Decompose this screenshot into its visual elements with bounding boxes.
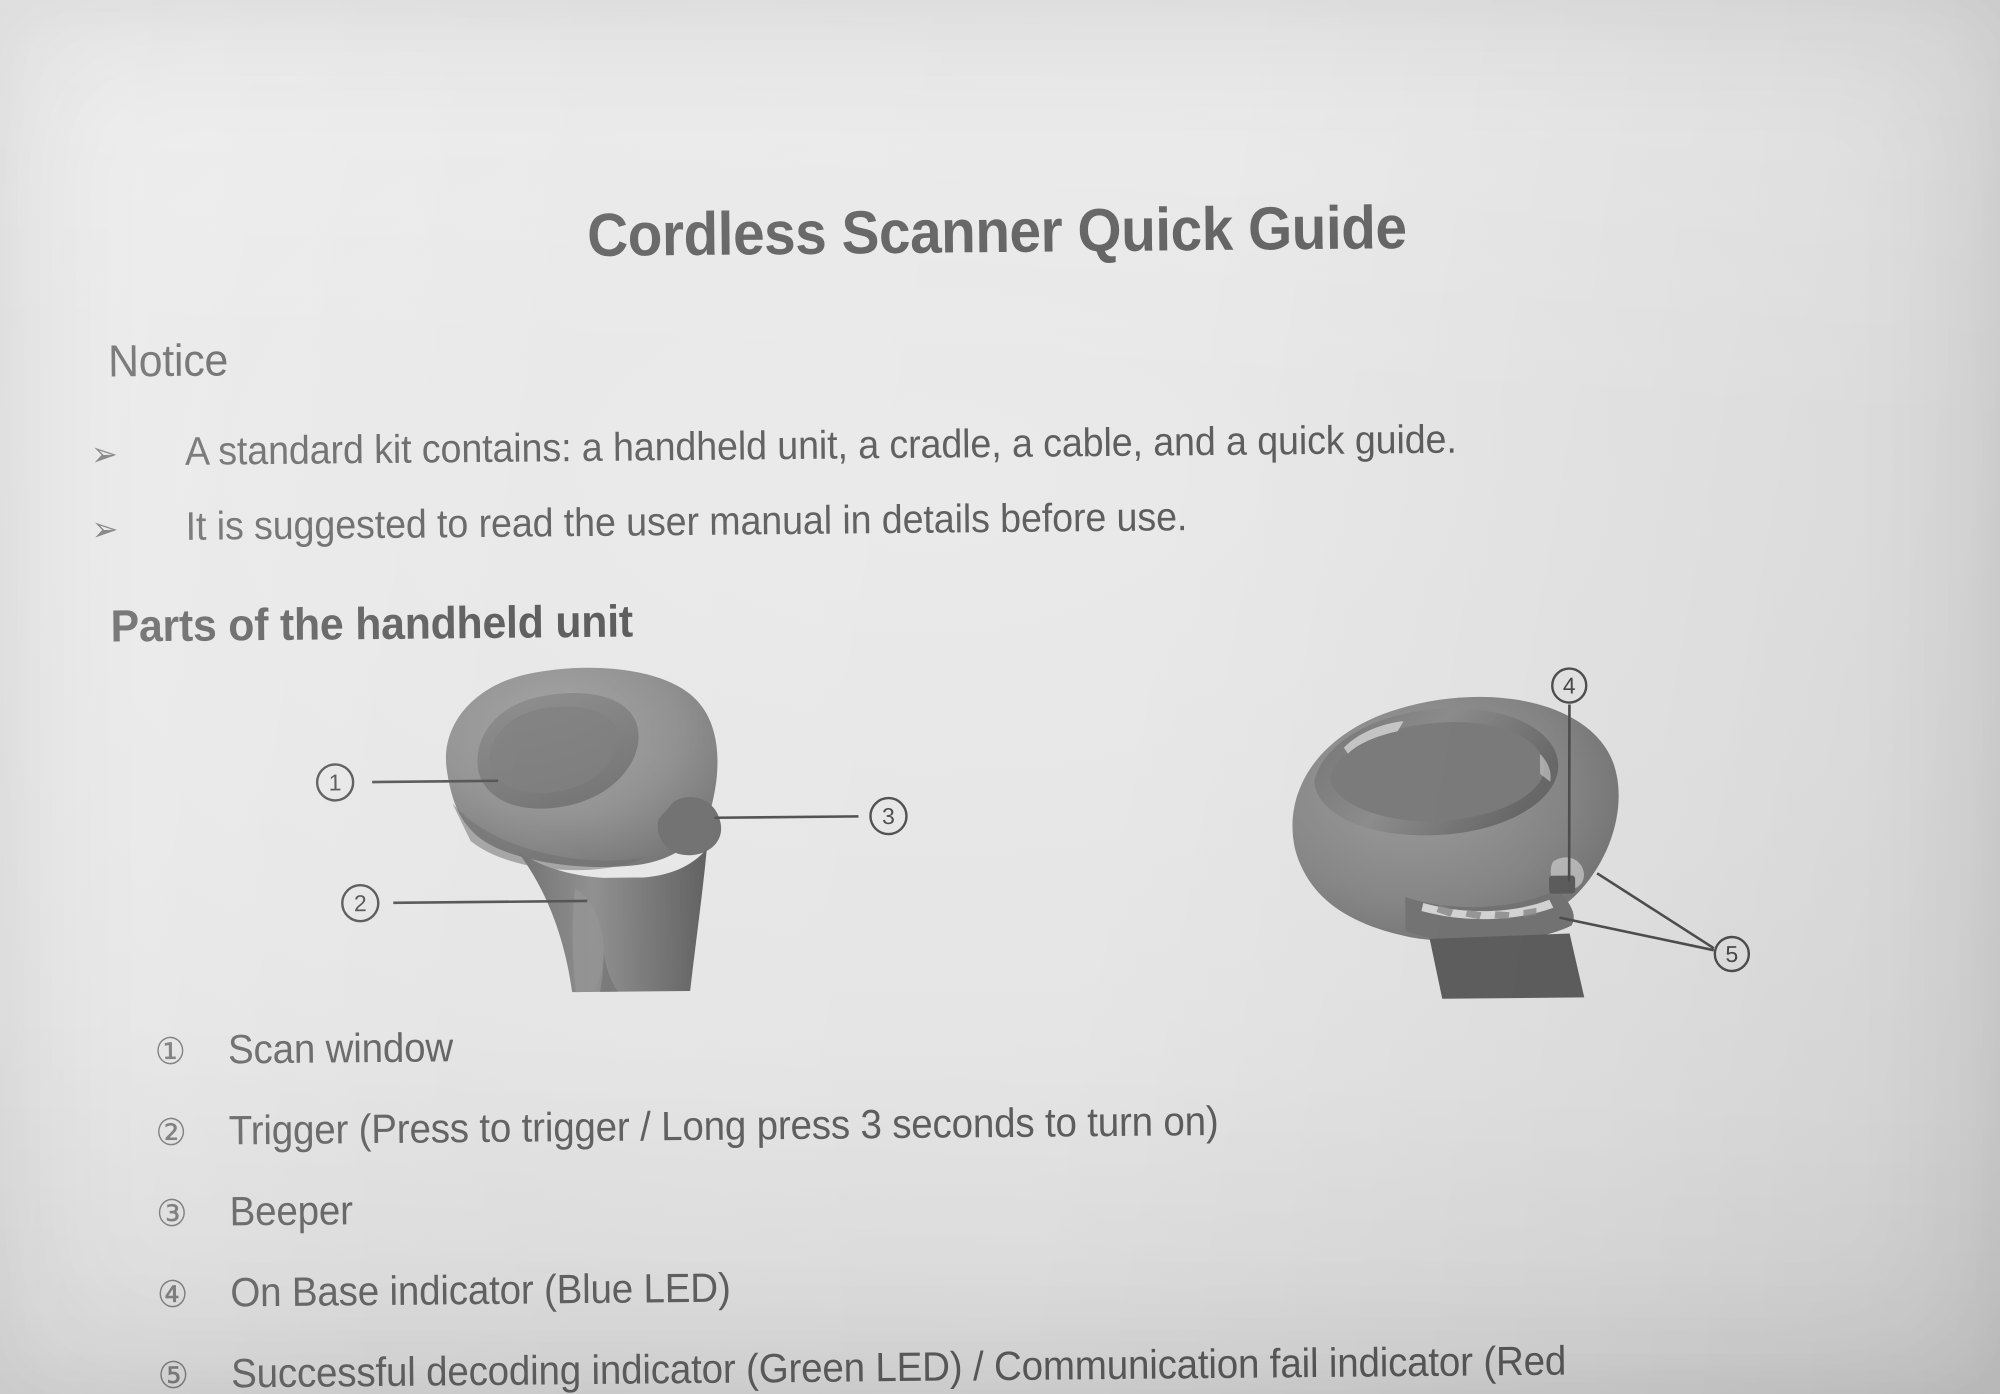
- arrow-bullet-icon: ➢: [91, 509, 185, 550]
- scanner-top-shape: [1291, 696, 1620, 1001]
- legend-item: ① Scan window: [154, 1024, 453, 1074]
- scanner-grip-shape: [517, 849, 708, 993]
- arrow-bullet-icon: ➢: [91, 434, 185, 475]
- notice-heading: Notice: [108, 334, 229, 387]
- legend-number-icon: ②: [155, 1110, 229, 1154]
- legend-number-icon: ⑤: [158, 1353, 232, 1394]
- legend-label: Successful decoding indicator (Green LED…: [231, 1338, 1566, 1394]
- callout-5: 5: [1559, 872, 1749, 973]
- legend-item: ③ Beeper: [156, 1187, 353, 1236]
- svg-text:4: 4: [1563, 672, 1576, 698]
- page-title: Cordless Scanner Quick Guide: [67, 187, 1928, 275]
- legend-number-icon: ③: [156, 1191, 230, 1235]
- scanned-quick-guide-page: Cordless Scanner Quick Guide Notice ➢ A …: [0, 0, 2000, 1394]
- legend-item: ④ On Base indicator (Blue LED): [157, 1265, 731, 1318]
- parts-heading: Parts of the handheld unit: [110, 596, 633, 653]
- figure-handheld-side-view: 1 2 3: [301, 649, 924, 1015]
- legend-number-icon: ①: [154, 1029, 228, 1073]
- legend-label: Scan window: [228, 1024, 453, 1073]
- notice-item-text: A standard kit contains: a handheld unit…: [185, 418, 1457, 475]
- legend-label: On Base indicator (Blue LED): [230, 1265, 731, 1317]
- legend-item: ② Trigger (Press to trigger / Long press…: [155, 1098, 1219, 1155]
- legend-label: Trigger (Press to trigger / Long press 3…: [229, 1098, 1219, 1154]
- figure-handheld-top-view: 4 5: [1251, 647, 1814, 1002]
- legend-label: Beeper: [229, 1187, 353, 1235]
- svg-text:2: 2: [354, 890, 367, 916]
- legend-item: ⑤ Successful decoding indicator (Green L…: [158, 1338, 1567, 1394]
- svg-text:1: 1: [329, 769, 342, 795]
- notice-bullet-item: ➢ A standard kit contains: a handheld un…: [91, 418, 1457, 476]
- legend-number-icon: ④: [157, 1272, 231, 1316]
- callout-3: 3: [714, 798, 906, 836]
- svg-text:5: 5: [1725, 941, 1738, 967]
- scanner-head-shape: [445, 666, 721, 871]
- notice-item-text: It is suggested to read the user manual …: [185, 495, 1187, 550]
- svg-text:3: 3: [882, 803, 895, 829]
- page-content: Cordless Scanner Quick Guide Notice ➢ A …: [0, 0, 2000, 1394]
- notice-bullet-item: ➢ It is suggested to read the user manua…: [91, 495, 1187, 551]
